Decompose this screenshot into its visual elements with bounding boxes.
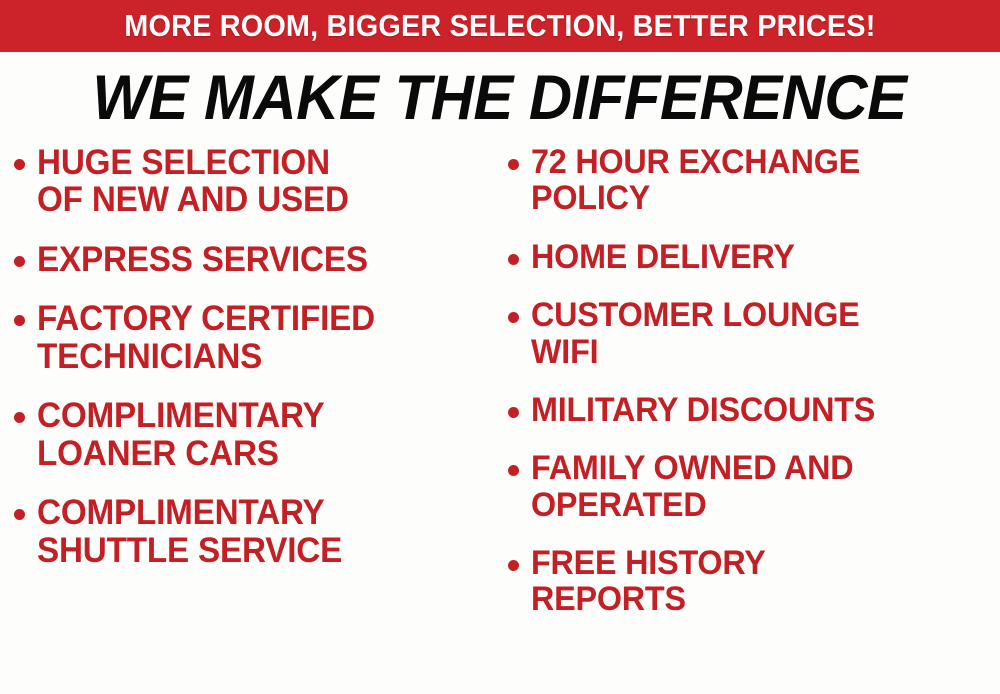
list-item-label: CUSTOMER LOUNGE WIFI [531,297,860,370]
bullet-dot-icon [14,315,25,326]
bullet-dot-icon [508,407,519,418]
promo-banner-text: MORE ROOM, BIGGER SELECTION, BETTER PRIC… [124,8,875,44]
bullet-dot-icon [14,159,25,170]
list-item: COMPLIMENTARY SHUTTLE SERVICE [14,494,500,569]
bullet-dot-icon [508,560,519,571]
list-item-label: EXPRESS SERVICES [37,241,368,278]
features-columns: HUGE SELECTION OF NEW AND USED EXPRESS S… [0,140,1000,640]
bullet-dot-icon [508,254,519,265]
features-column-left: HUGE SELECTION OF NEW AND USED EXPRESS S… [0,144,500,640]
headline-container: WE MAKE THE DIFFERENCE [0,52,1000,140]
list-item: FREE HISTORY REPORTS [508,545,1000,618]
features-column-right: 72 HOUR EXCHANGE POLICY HOME DELIVERY CU… [500,144,1000,640]
list-item: FACTORY CERTIFIED TECHNICIANS [14,300,500,375]
list-item-label: HUGE SELECTION OF NEW AND USED [37,144,349,219]
bullet-dot-icon [508,312,519,323]
list-item: 72 HOUR EXCHANGE POLICY [508,144,1000,217]
list-item-label: FACTORY CERTIFIED TECHNICIANS [37,300,375,375]
list-item-label: MILITARY DISCOUNTS [531,392,875,428]
list-item-label: COMPLIMENTARY LOANER CARS [37,397,325,472]
list-item: EXPRESS SERVICES [14,241,500,278]
bullet-dot-icon [14,412,25,423]
bullet-dot-icon [14,256,25,267]
bullet-dot-icon [14,509,25,520]
list-item-label: FAMILY OWNED AND OPERATED [531,450,853,523]
list-item-label: FREE HISTORY REPORTS [531,545,766,618]
bullet-dot-icon [508,465,519,476]
list-item: HUGE SELECTION OF NEW AND USED [14,144,500,219]
list-item: MILITARY DISCOUNTS [508,392,1000,428]
list-item-label: 72 HOUR EXCHANGE POLICY [531,144,860,217]
list-item-label: COMPLIMENTARY SHUTTLE SERVICE [37,494,342,569]
list-item-label: HOME DELIVERY [531,239,795,275]
bullet-dot-icon [508,159,519,170]
list-item: COMPLIMENTARY LOANER CARS [14,397,500,472]
list-item: HOME DELIVERY [508,239,1000,275]
promo-banner: MORE ROOM, BIGGER SELECTION, BETTER PRIC… [0,0,1000,52]
page-title: WE MAKE THE DIFFERENCE [93,67,907,130]
list-item: FAMILY OWNED AND OPERATED [508,450,1000,523]
list-item: CUSTOMER LOUNGE WIFI [508,297,1000,370]
